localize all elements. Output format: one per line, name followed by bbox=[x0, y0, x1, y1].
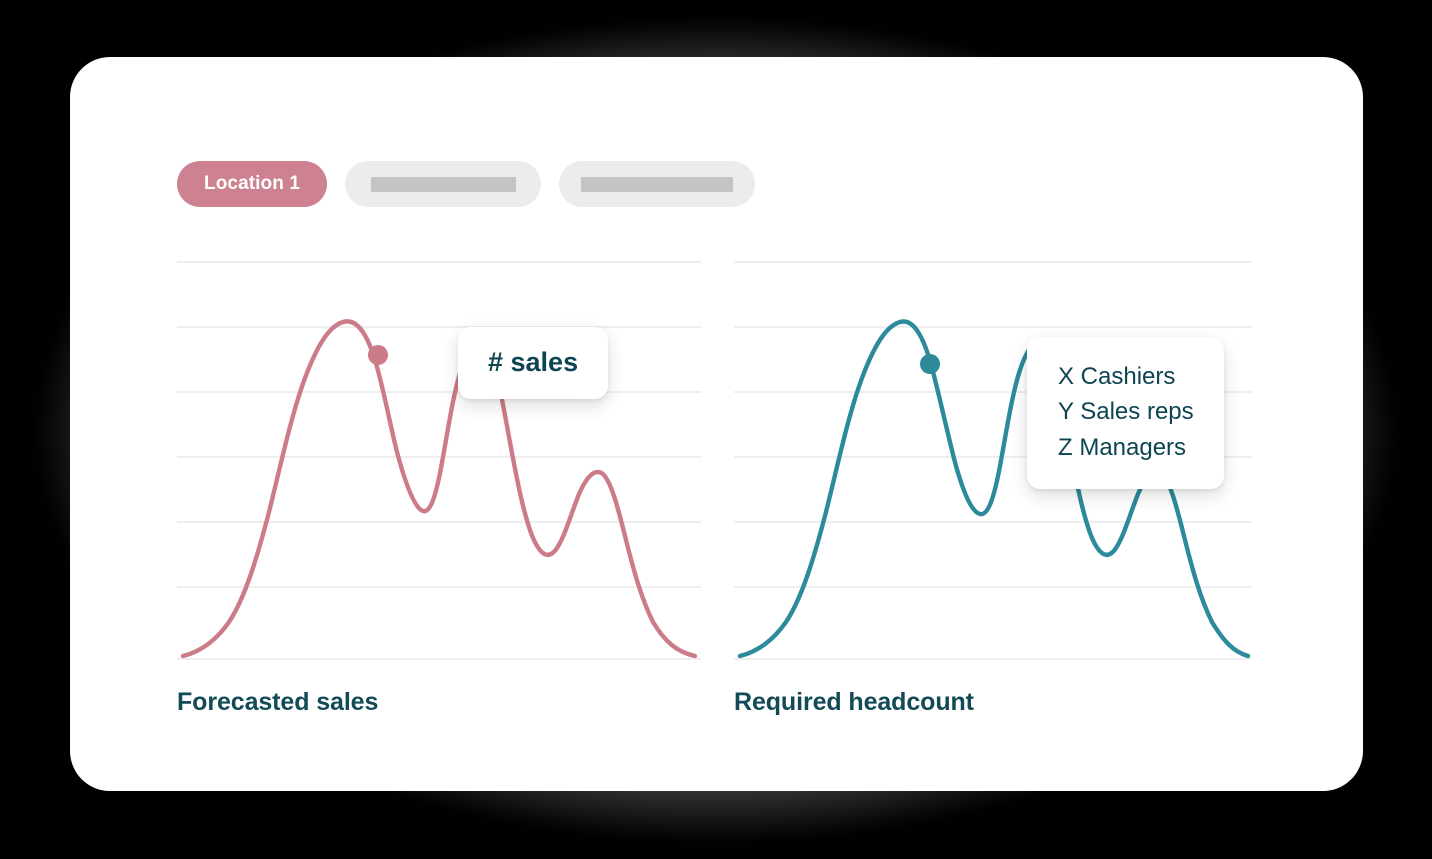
filter-pill-location-3[interactable] bbox=[559, 161, 755, 207]
filter-pill-location-1[interactable]: Location 1 bbox=[177, 161, 327, 207]
gridlines-forecasted-sales bbox=[177, 262, 701, 659]
chart-panel-required-headcount: X Cashiers Y Sales reps Z Managers Requi… bbox=[734, 260, 1252, 670]
chart-panel-forecasted-sales: # sales Forecasted sales bbox=[177, 260, 701, 670]
data-point-marker-sales[interactable] bbox=[368, 345, 388, 365]
tooltip-required-headcount: X Cashiers Y Sales reps Z Managers bbox=[1027, 337, 1224, 489]
screenshot-root: Location 1 bbox=[0, 0, 1432, 859]
redacted-label-bar bbox=[581, 177, 733, 192]
tooltip-line: # sales bbox=[488, 347, 578, 377]
chart-caption-forecasted-sales: Forecasted sales bbox=[177, 688, 378, 717]
location-filter-group: Location 1 bbox=[177, 161, 755, 207]
line-chart-forecasted-sales[interactable] bbox=[177, 260, 701, 670]
data-point-marker-headcount[interactable] bbox=[920, 354, 940, 374]
tooltip-line-managers: Z Managers bbox=[1058, 430, 1194, 465]
tooltip-forecasted-sales: # sales bbox=[458, 327, 608, 399]
redacted-label-bar bbox=[371, 177, 516, 192]
plot-area-required-headcount: X Cashiers Y Sales reps Z Managers bbox=[734, 260, 1252, 670]
filter-pill-label: Location 1 bbox=[204, 173, 300, 195]
series-line-forecasted-sales bbox=[183, 321, 695, 656]
tooltip-line-cashiers: X Cashiers bbox=[1058, 359, 1194, 394]
filter-pill-location-2[interactable] bbox=[345, 161, 541, 207]
chart-caption-required-headcount: Required headcount bbox=[734, 688, 974, 717]
dashboard-card: Location 1 bbox=[70, 57, 1363, 791]
tooltip-line-sales-reps: Y Sales reps bbox=[1058, 394, 1194, 429]
plot-area-forecasted-sales: # sales bbox=[177, 260, 701, 670]
